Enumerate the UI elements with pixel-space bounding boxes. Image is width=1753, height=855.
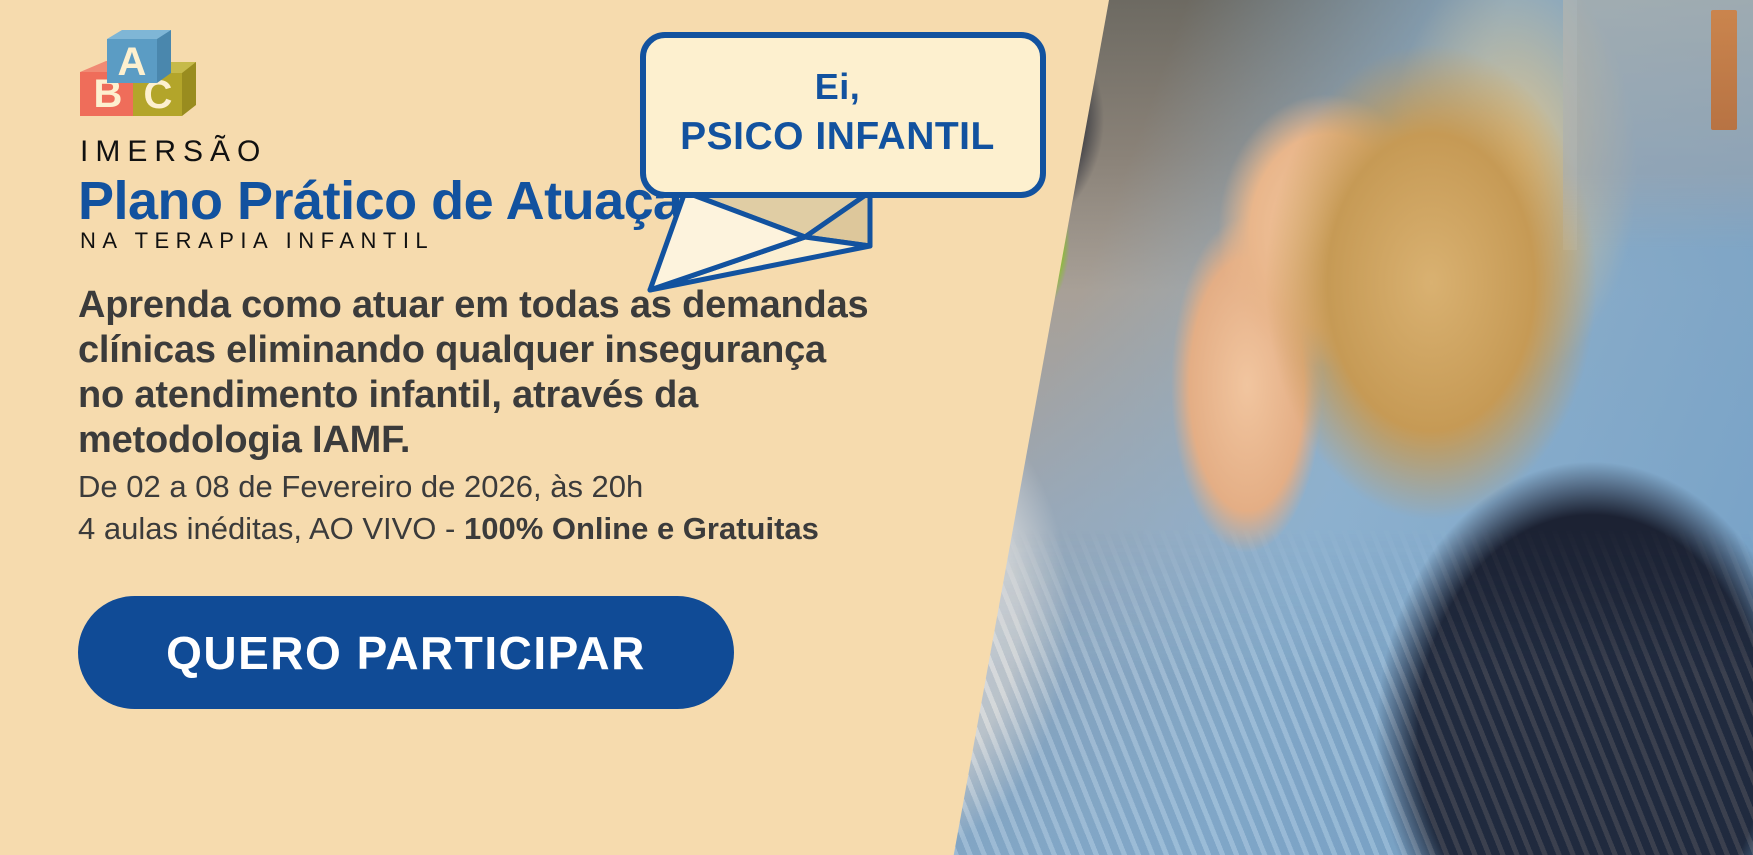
svg-text:A: A [118, 40, 147, 84]
bubble-body [643, 35, 1043, 195]
block-a-icon: A [107, 30, 171, 84]
detail-format: 4 aulas inéditas, AO VIVO - 100% Online … [78, 511, 819, 547]
orange-wall-strip [1711, 10, 1737, 130]
brand-subeyebrow: NA TERAPIA INFANTIL [80, 228, 434, 254]
abc-blocks-logo: B C A [78, 28, 208, 133]
detail-format-bold: 100% Online e Gratuitas [464, 511, 819, 546]
page-title: Plano Prático de Atuação [78, 170, 715, 232]
cta-button[interactable]: QUERO PARTICIPAR [78, 596, 734, 709]
brand-eyebrow: IMERSÃO [80, 135, 267, 169]
detail-date: De 02 a 08 de Fevereiro de 2026, às 20h [78, 469, 643, 505]
promo-banner: B C A IMERSÃO Plano Prático de [0, 0, 1753, 855]
speech-bubble[interactable]: Ei, PSICO INFANTIL [630, 22, 1055, 322]
detail-format-prefix: 4 aulas inéditas, AO VIVO - [78, 511, 464, 546]
